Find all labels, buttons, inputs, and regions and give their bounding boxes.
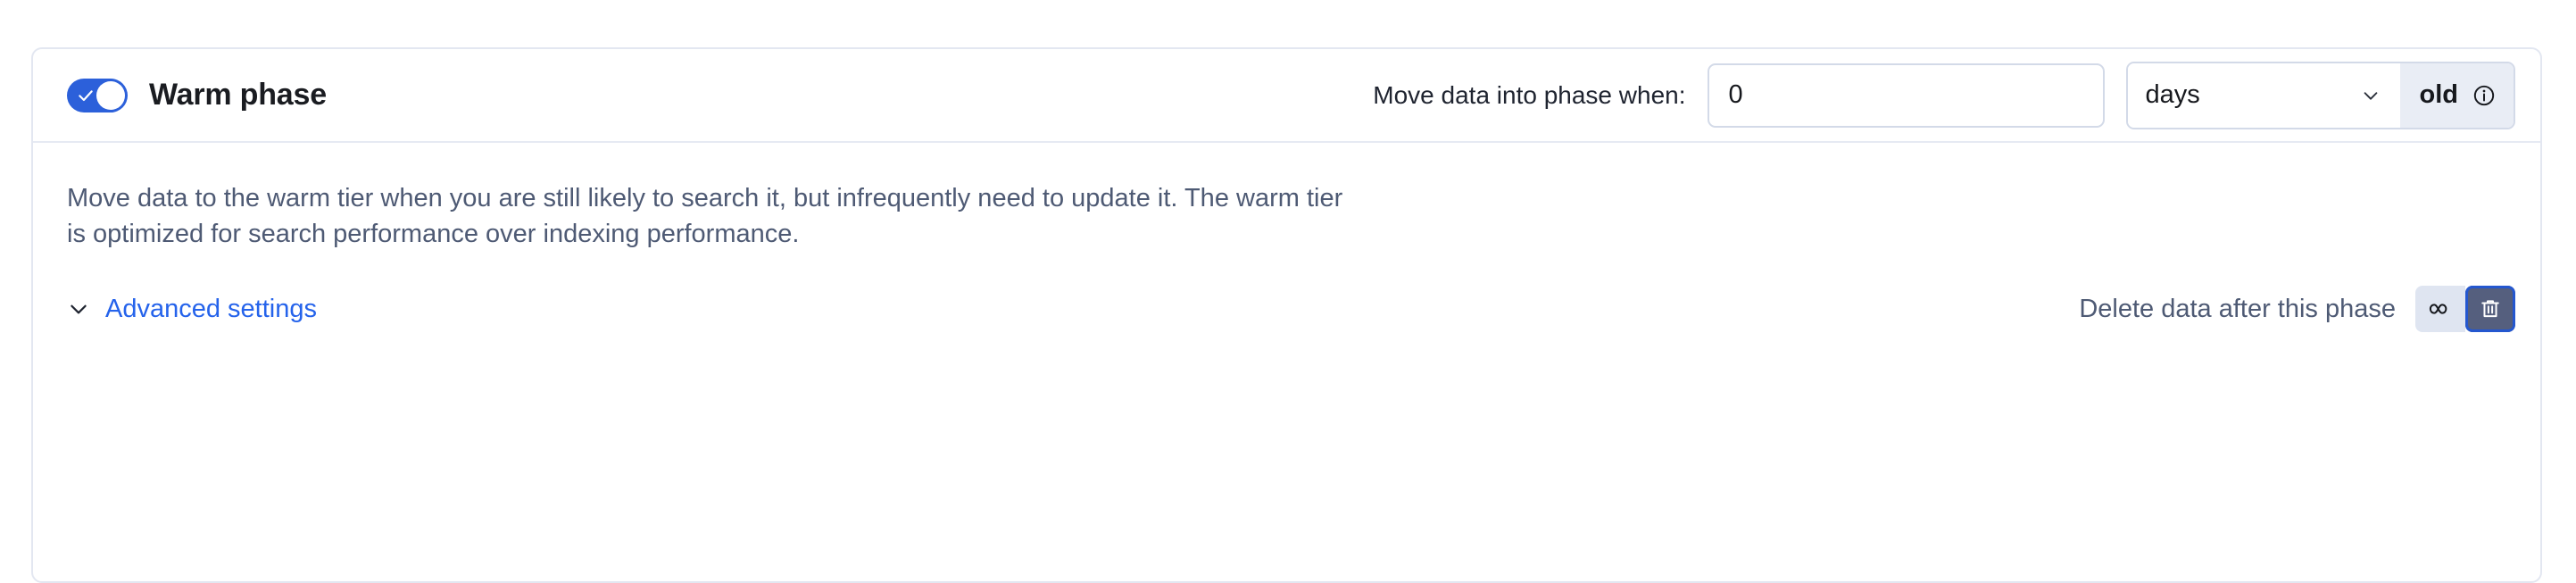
min-age-label: Move data into phase when: (1373, 81, 1685, 110)
phase-header: Warm phase Move data into phase when: da… (33, 49, 2540, 143)
page-title: Warm phase (149, 78, 327, 112)
chevron-down-icon (2361, 86, 2381, 105)
min-age-unit-group: days old (2126, 62, 2516, 129)
keep-data-forever-button[interactable] (2415, 286, 2465, 332)
advanced-settings-toggle[interactable]: Advanced settings (67, 295, 317, 324)
min-age-append-text: old (2420, 80, 2459, 110)
min-age-input[interactable] (1708, 63, 2105, 128)
phase-header-left: Warm phase (67, 78, 327, 112)
chevron-down-icon (67, 297, 90, 321)
phase-body: Move data to the warm tier when you are … (33, 143, 2540, 332)
min-age-unit-value: days (2146, 80, 2200, 110)
toggle-knob (96, 81, 125, 110)
warm-phase-card: Warm phase Move data into phase when: da… (31, 47, 2542, 583)
min-age-unit-select[interactable]: days (2128, 63, 2400, 128)
infinity-icon (2427, 296, 2454, 322)
warm-phase-toggle[interactable] (67, 79, 128, 112)
phase-footer: Advanced settings Delete data after this… (67, 286, 2515, 332)
delete-phase-button-group (2415, 286, 2515, 332)
delete-phase-controls: Delete data after this phase (2079, 286, 2515, 332)
min-age-unit-append: old (2400, 63, 2514, 128)
phase-header-right: Move data into phase when: days old (1373, 62, 2515, 129)
delete-data-button[interactable] (2465, 286, 2515, 332)
delete-data-label: Delete data after this phase (2079, 295, 2396, 324)
advanced-settings-label: Advanced settings (105, 295, 317, 324)
phase-description: Move data to the warm tier when you are … (67, 180, 1343, 252)
trash-icon (2478, 296, 2503, 321)
info-circle-icon[interactable] (2472, 84, 2496, 107)
check-icon (77, 87, 95, 104)
